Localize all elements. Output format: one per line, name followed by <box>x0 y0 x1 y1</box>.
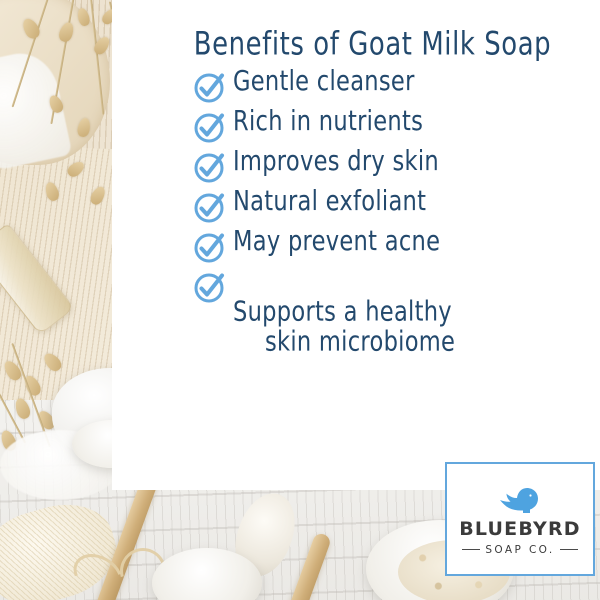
benefits-list: Gentle cleanser Rich in nutrients Improv… <box>159 67 586 371</box>
content-area: Benefits of Goat Milk Soap Gentle cleans… <box>145 0 600 470</box>
check-circle-icon <box>193 230 227 264</box>
list-item: Improves dry skin <box>193 147 586 184</box>
list-item: Rich in nutrients <box>193 107 586 144</box>
page-title: Benefits of Goat Milk Soap <box>168 26 578 63</box>
check-circle-icon <box>193 70 227 104</box>
list-item-label-line2: skin microbiome <box>233 327 455 357</box>
check-circle-icon <box>193 150 227 184</box>
check-circle-icon <box>193 190 227 224</box>
rule-left-icon <box>462 549 480 551</box>
rule-right-icon <box>560 549 578 551</box>
list-item-label: Improves dry skin <box>233 147 439 177</box>
check-circle-icon <box>193 110 227 144</box>
check-circle-icon <box>193 270 227 304</box>
list-item: Natural exfoliant <box>193 187 586 224</box>
list-item-label: Gentle cleanser <box>233 67 415 97</box>
bird-icon <box>497 483 543 517</box>
brand-tagline: SOAP CO. <box>485 544 554 556</box>
brand-tagline-row: SOAP CO. <box>462 544 577 556</box>
list-item: Gentle cleanser <box>193 67 586 104</box>
list-item: Supports a healthy skin microbiome <box>193 267 586 371</box>
list-item-label: May prevent acne <box>233 227 440 257</box>
brand-name: BLUEBYRD <box>459 518 581 540</box>
list-item: May prevent acne <box>193 227 586 264</box>
brand-logo: BLUEBYRD SOAP CO. <box>445 462 595 576</box>
list-item-label: Supports a healthy <box>233 295 452 327</box>
list-item-label: Rich in nutrients <box>233 107 423 137</box>
list-item-label: Natural exfoliant <box>233 187 426 217</box>
